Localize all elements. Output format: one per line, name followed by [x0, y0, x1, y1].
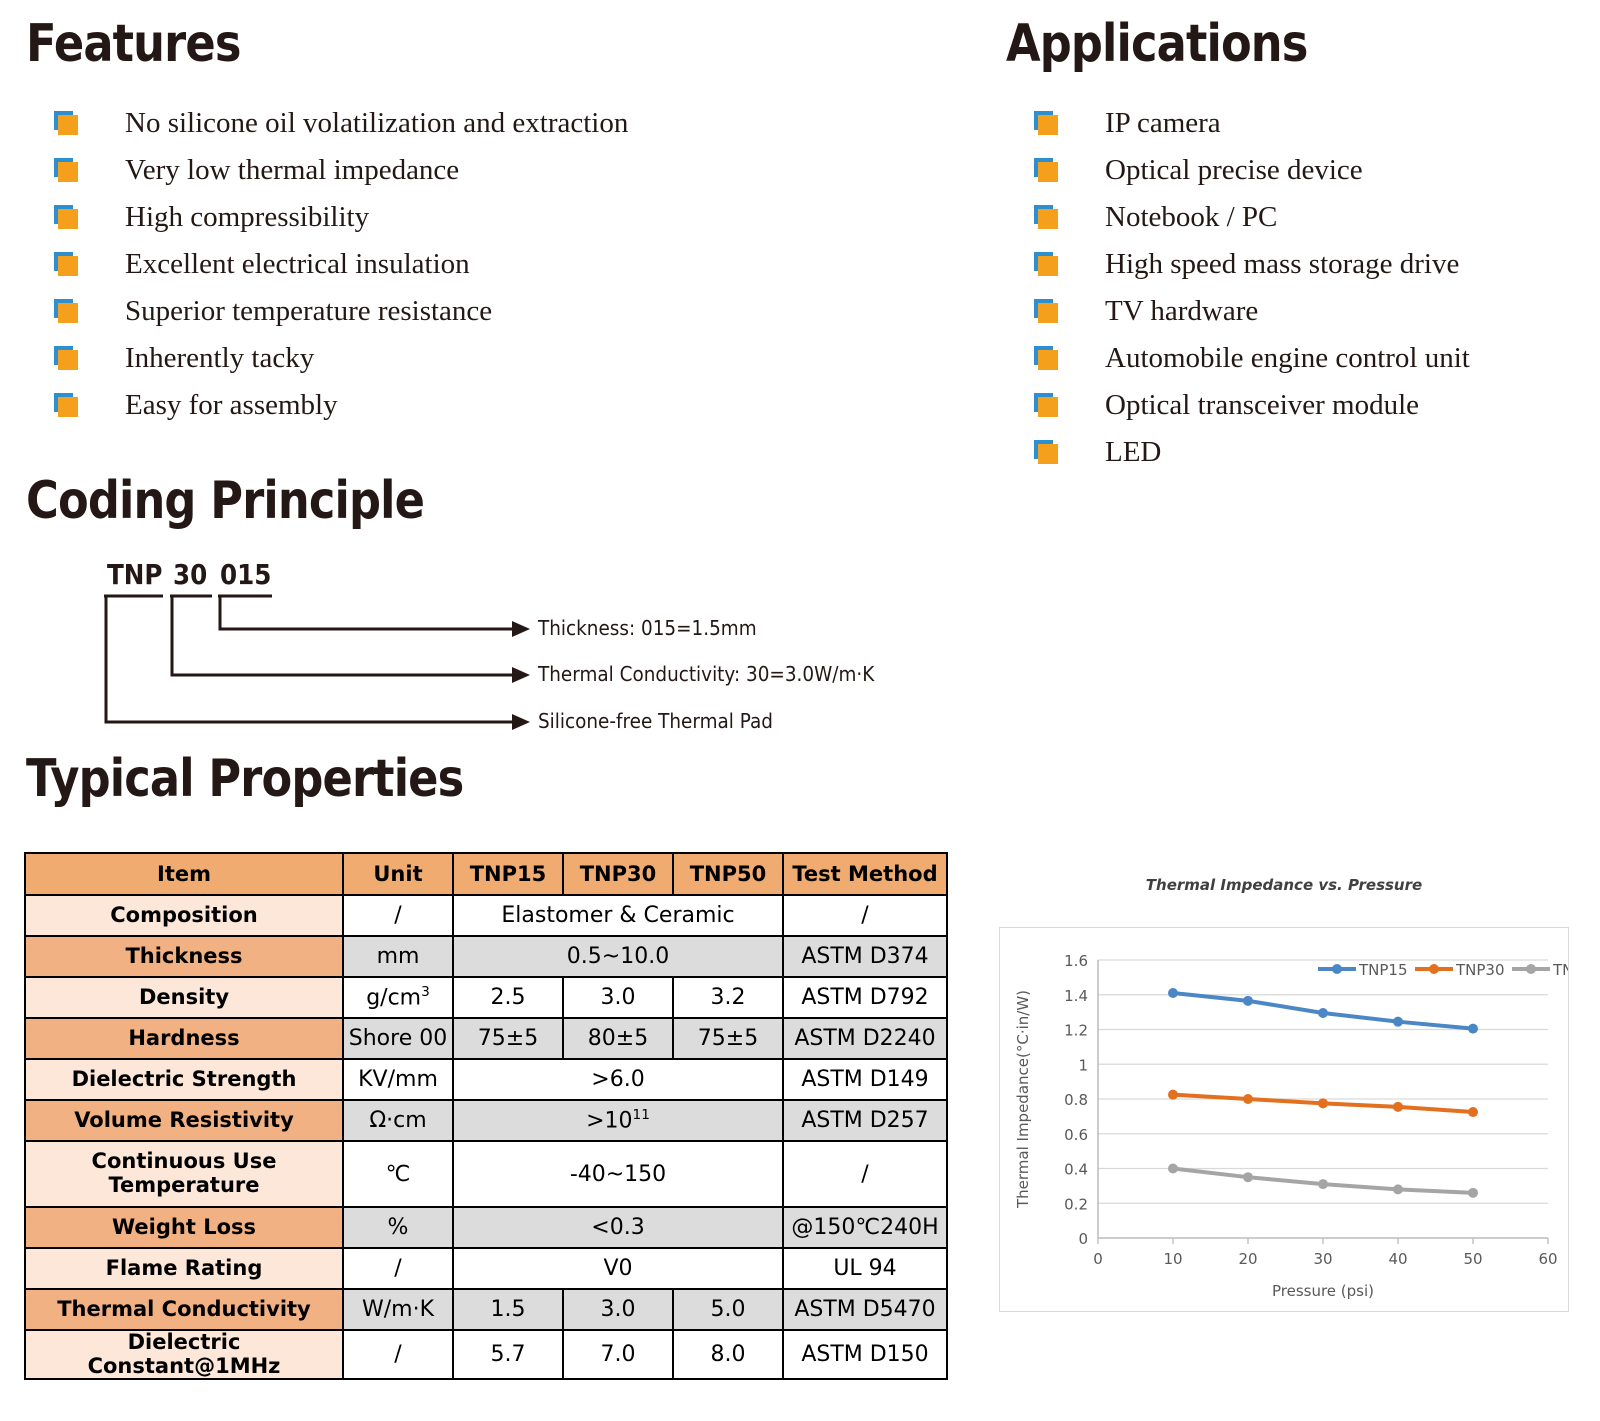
chart-y-tick-label: 1.6 — [1064, 952, 1088, 970]
callout-thermal-conductivity: Thermal Conductivity: 30=3.0W/m·K — [538, 662, 874, 686]
feature-label: Inherently tacky — [125, 342, 314, 375]
table-row: HardnessShore 0075±580±575±5ASTM D2240 — [25, 1018, 947, 1059]
chart-svg: 00.20.40.60.811.21.41.60102030405060Pres… — [1000, 928, 1568, 1311]
table-cell-value: 3.2 — [673, 977, 783, 1018]
chart-x-tick-label: 50 — [1463, 1250, 1482, 1268]
bullet-square-icon — [1034, 158, 1060, 184]
table-cell-value: / — [343, 895, 453, 936]
bullet-square-icon — [54, 393, 80, 419]
table-cell-value: Ω·cm — [343, 1100, 453, 1141]
table-cell-value: / — [783, 895, 947, 936]
feature-item: Excellent electrical insulation — [54, 241, 628, 288]
coding-principle-heading: Coding Principle — [26, 471, 424, 531]
application-label: Automobile engine control unit — [1105, 342, 1470, 375]
table-cell-item: Volume Resistivity — [25, 1100, 343, 1141]
application-item: High speed mass storage drive — [1034, 241, 1470, 288]
features-heading: Features — [26, 14, 241, 74]
chart-data-point — [1393, 1017, 1403, 1027]
chart-legend-marker — [1429, 964, 1439, 974]
table-row: Weight Loss%<0.3@150℃240H — [25, 1207, 947, 1248]
application-label: IP camera — [1105, 107, 1221, 140]
applications-list: IP cameraOptical precise deviceNotebook … — [1034, 100, 1470, 476]
table-cell-value: 8.0 — [673, 1330, 783, 1379]
table-cell-value: ASTM D149 — [783, 1059, 947, 1100]
feature-item: High compressibility — [54, 194, 628, 241]
chart-x-tick-label: 40 — [1388, 1250, 1407, 1268]
table-column-header: TNP15 — [453, 853, 563, 895]
table-column-header: TNP50 — [673, 853, 783, 895]
feature-item: No silicone oil volatilization and extra… — [54, 100, 628, 147]
table-cell-value: g/cm3 — [343, 977, 453, 1018]
feature-label: Easy for assembly — [125, 389, 338, 422]
bullet-square-icon — [1034, 393, 1060, 419]
chart-y-axis-label: Thermal Impedance(°C·in/W) — [1014, 990, 1032, 1209]
table-cell-value: 1.5 — [453, 1289, 563, 1330]
chart-y-tick-label: 0 — [1078, 1230, 1088, 1248]
application-label: TV hardware — [1105, 295, 1258, 328]
bullet-square-icon — [1034, 299, 1060, 325]
bullet-square-icon — [1034, 111, 1060, 137]
chart-y-tick-label: 0.6 — [1064, 1126, 1088, 1144]
table-cell-value: <0.3 — [453, 1207, 783, 1248]
feature-label: Excellent electrical insulation — [125, 248, 470, 281]
chart-y-tick-label: 1.4 — [1064, 987, 1088, 1005]
feature-item: Inherently tacky — [54, 335, 628, 382]
chart-data-point — [1168, 988, 1178, 998]
table-cell-item: Thermal Conductivity — [25, 1289, 343, 1330]
table-cell-value: / — [343, 1330, 453, 1379]
bullet-square-icon — [54, 205, 80, 231]
bullet-square-icon — [54, 111, 80, 137]
feature-item: Very low thermal impedance — [54, 147, 628, 194]
table-column-header: Item — [25, 853, 343, 895]
table-cell-value: % — [343, 1207, 453, 1248]
chart-legend-label: TNP30 — [1455, 961, 1505, 979]
chart-x-tick-label: 0 — [1093, 1250, 1103, 1268]
application-item: IP camera — [1034, 100, 1470, 147]
callout-thickness: Thickness: 015=1.5mm — [538, 616, 757, 640]
table-cell-value: 0.5~10.0 — [453, 936, 783, 977]
chart-x-tick-label: 30 — [1313, 1250, 1332, 1268]
application-label: Optical transceiver module — [1105, 389, 1419, 422]
table-row: Densityg/cm32.53.03.2ASTM D792 — [25, 977, 947, 1018]
chart-y-tick-label: 0.2 — [1064, 1195, 1088, 1213]
features-list: No silicone oil volatilization and extra… — [54, 100, 628, 429]
table-cell-value: 80±5 — [563, 1018, 673, 1059]
bullet-square-icon — [54, 158, 80, 184]
table-cell-value: 3.0 — [563, 977, 673, 1018]
table-row: Dielectric StrengthKV/mm>6.0ASTM D149 — [25, 1059, 947, 1100]
table-cell-value: 75±5 — [673, 1018, 783, 1059]
chart-data-point — [1393, 1184, 1403, 1194]
chart-legend-marker — [1526, 964, 1536, 974]
table-row: Thermal ConductivityW/m·K1.53.05.0ASTM D… — [25, 1289, 947, 1330]
table-row: Dielectric Constant@1MHz/5.77.08.0ASTM D… — [25, 1330, 947, 1379]
chart-x-tick-label: 10 — [1163, 1250, 1182, 1268]
table-cell-item: Dielectric Constant@1MHz — [25, 1330, 343, 1379]
table-cell-item: Composition — [25, 895, 343, 936]
bullet-square-icon — [54, 252, 80, 278]
table-cell-value: 2.5 — [453, 977, 563, 1018]
table-cell-value: ℃ — [343, 1141, 453, 1207]
application-label: LED — [1105, 436, 1161, 469]
chart-data-point — [1243, 1094, 1253, 1104]
table-cell-value: mm — [343, 936, 453, 977]
chart-legend-label: TNP15 — [1358, 961, 1408, 979]
table-cell-value: KV/mm — [343, 1059, 453, 1100]
application-label: Optical precise device — [1105, 154, 1363, 187]
table-cell-value: Shore 00 — [343, 1018, 453, 1059]
table-cell-value: / — [343, 1248, 453, 1289]
table-cell-value: >6.0 — [453, 1059, 783, 1100]
callout-product-type: Silicone-free Thermal Pad — [538, 709, 773, 733]
table-cell-value: V0 — [453, 1248, 783, 1289]
table-cell-value: 3.0 — [563, 1289, 673, 1330]
table-cell-value: / — [783, 1141, 947, 1207]
chart-x-tick-label: 60 — [1538, 1250, 1557, 1268]
bullet-square-icon — [54, 346, 80, 372]
table-cell-item: Thickness — [25, 936, 343, 977]
chart-data-point — [1468, 1024, 1478, 1034]
chart-data-point — [1168, 1164, 1178, 1174]
table-cell-item: Weight Loss — [25, 1207, 343, 1248]
table-cell-value: @150℃240H — [783, 1207, 947, 1248]
table-row: Continuous Use Temperature℃-40~150/ — [25, 1141, 947, 1207]
table-cell-value: 5.7 — [453, 1330, 563, 1379]
chart-data-point — [1393, 1102, 1403, 1112]
table-cell-value: -40~150 — [453, 1141, 783, 1207]
typical-properties-heading: Typical Properties — [26, 749, 463, 809]
table-cell-item: Flame Rating — [25, 1248, 343, 1289]
table-cell-value: W/m·K — [343, 1289, 453, 1330]
chart-legend-label: TNP50 — [1552, 961, 1568, 979]
chart-y-tick-label: 0.8 — [1064, 1091, 1088, 1109]
chart-data-point — [1168, 1090, 1178, 1100]
table-cell-value: ASTM D792 — [783, 977, 947, 1018]
table-cell-value: Elastomer & Ceramic — [453, 895, 783, 936]
application-item: TV hardware — [1034, 288, 1470, 335]
bullet-square-icon — [54, 299, 80, 325]
coding-leader-lines — [60, 548, 920, 738]
table-row: Composition/Elastomer & Ceramic/ — [25, 895, 947, 936]
table-cell-value: ASTM D5470 — [783, 1289, 947, 1330]
application-item: Automobile engine control unit — [1034, 335, 1470, 382]
chart-data-point — [1468, 1107, 1478, 1117]
chart-data-point — [1318, 1098, 1328, 1108]
feature-label: Very low thermal impedance — [125, 154, 459, 187]
table-cell-value: 5.0 — [673, 1289, 783, 1330]
chart-y-tick-label: 0.4 — [1064, 1161, 1088, 1179]
table-cell-item: Dielectric Strength — [25, 1059, 343, 1100]
chart-x-axis-label: Pressure (psi) — [1272, 1282, 1374, 1300]
typical-properties-table: ItemUnitTNP15TNP30TNP50Test Method Compo… — [24, 852, 948, 1380]
feature-item: Superior temperature resistance — [54, 288, 628, 335]
application-item: LED — [1034, 429, 1470, 476]
feature-label: No silicone oil volatilization and extra… — [125, 107, 628, 140]
table-cell-value: ASTM D2240 — [783, 1018, 947, 1059]
applications-heading: Applications — [1006, 14, 1308, 74]
table-cell-value: ASTM D374 — [783, 936, 947, 977]
chart-data-point — [1243, 996, 1253, 1006]
bullet-square-icon — [1034, 440, 1060, 466]
table-body: Composition/Elastomer & Ceramic/Thicknes… — [25, 895, 947, 1379]
bullet-square-icon — [1034, 346, 1060, 372]
table-cell-value: 75±5 — [453, 1018, 563, 1059]
table-cell-value: UL 94 — [783, 1248, 947, 1289]
application-item: Optical transceiver module — [1034, 382, 1470, 429]
table-column-header: Unit — [343, 853, 453, 895]
chart-title: Thermal Impedance vs. Pressure — [999, 876, 1569, 894]
feature-label: Superior temperature resistance — [125, 295, 492, 328]
table-row: Thicknessmm0.5~10.0ASTM D374 — [25, 936, 947, 977]
table-column-header: Test Method — [783, 853, 947, 895]
coding-principle-diagram: TNP 30 015 Thickness: 015=1.5mm Thermal … — [60, 548, 920, 738]
table-column-header: TNP30 — [563, 853, 673, 895]
table-cell-value: ASTM D257 — [783, 1100, 947, 1141]
table-cell-value: >1011 — [453, 1100, 783, 1141]
table-cell-value: 7.0 — [563, 1330, 673, 1379]
table-cell-item: Density — [25, 977, 343, 1018]
chart-data-point — [1468, 1188, 1478, 1198]
chart-legend-marker — [1332, 964, 1342, 974]
chart-x-tick-label: 20 — [1238, 1250, 1257, 1268]
feature-label: High compressibility — [125, 201, 369, 234]
chart-data-point — [1243, 1172, 1253, 1182]
chart-y-tick-label: 1.2 — [1064, 1022, 1088, 1040]
application-item: Optical precise device — [1034, 147, 1470, 194]
chart-y-tick-label: 1 — [1078, 1056, 1088, 1074]
table-header: ItemUnitTNP15TNP30TNP50Test Method — [25, 853, 947, 895]
table-cell-item: Hardness — [25, 1018, 343, 1059]
bullet-square-icon — [1034, 252, 1060, 278]
table-row: Flame Rating/V0UL 94 — [25, 1248, 947, 1289]
chart-data-point — [1318, 1179, 1328, 1189]
application-item: Notebook / PC — [1034, 194, 1470, 241]
application-label: Notebook / PC — [1105, 201, 1277, 234]
application-label: High speed mass storage drive — [1105, 248, 1459, 281]
table-cell-value: ASTM D150 — [783, 1330, 947, 1379]
table-cell-item: Continuous Use Temperature — [25, 1141, 343, 1207]
thermal-impedance-chart: 00.20.40.60.811.21.41.60102030405060Pres… — [999, 927, 1569, 1312]
bullet-square-icon — [1034, 205, 1060, 231]
chart-data-point — [1318, 1008, 1328, 1018]
table-row: Volume ResistivityΩ·cm>1011ASTM D257 — [25, 1100, 947, 1141]
feature-item: Easy for assembly — [54, 382, 628, 429]
table-header-row: ItemUnitTNP15TNP30TNP50Test Method — [25, 853, 947, 895]
